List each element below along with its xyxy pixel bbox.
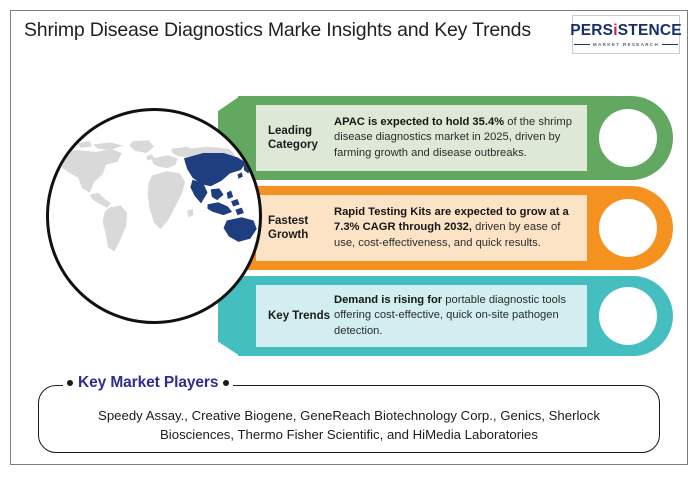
key-market-players-box: Key Market Players Speedy Assay., Creati… xyxy=(38,385,660,453)
row-category-label-fastest-growth: Fastest Growth xyxy=(256,214,334,243)
row-hole-leading-category xyxy=(599,109,657,167)
insight-row-leading-category[interactable]: Leading Category APAC is expected to hol… xyxy=(238,96,673,180)
row-outer-leading-category: Leading Category APAC is expected to hol… xyxy=(238,96,673,180)
row-outer-fastest-growth: Fastest Growth Rapid Testing Kits are ex… xyxy=(238,186,673,270)
row-hole-fastest-growth xyxy=(599,199,657,257)
infographic-canvas: Shrimp Disease Diagnostics Marke Insight… xyxy=(0,0,700,477)
insight-row-key-trends[interactable]: Key Trends Demand is rising for portable… xyxy=(238,276,673,356)
row-outer-key-trends: Key Trends Demand is rising for portable… xyxy=(238,276,673,356)
key-market-players-title-wrap: Key Market Players xyxy=(63,374,233,392)
row-category-label-key-trends: Key Trends xyxy=(256,309,334,323)
bullet-dot-left-icon xyxy=(67,380,73,386)
row-hole-key-trends xyxy=(599,287,657,345)
key-market-players-title: Key Market Players xyxy=(78,374,218,392)
row-category-label-leading-category: Leading Category xyxy=(256,124,334,153)
row-description-key-trends: Demand is rising for portable diagnostic… xyxy=(334,293,587,339)
row-description-fastest-growth: Rapid Testing Kits are expected to grow … xyxy=(334,205,587,251)
row-panel-leading-category: Leading Category APAC is expected to hol… xyxy=(256,105,587,171)
world-map-globe xyxy=(46,108,262,324)
row-panel-key-trends: Key Trends Demand is rising for portable… xyxy=(256,285,587,347)
row-description-leading-category: APAC is expected to hold 35.4% of the sh… xyxy=(334,115,587,161)
row-lead-text-key-trends: Demand is rising for xyxy=(334,294,442,306)
world-map-apac-highlight xyxy=(184,153,261,250)
row-panel-fastest-growth: Fastest Growth Rapid Testing Kits are ex… xyxy=(256,195,587,261)
row-lead-text-leading-category: APAC is expected to hold 35.4% xyxy=(334,116,504,128)
bullet-dot-right-icon xyxy=(223,380,229,386)
key-market-players-list: Speedy Assay., Creative Biogene, GeneRea… xyxy=(61,406,637,444)
insight-row-fastest-growth[interactable]: Fastest Growth Rapid Testing Kits are ex… xyxy=(238,186,673,270)
world-map-svg xyxy=(47,137,261,271)
